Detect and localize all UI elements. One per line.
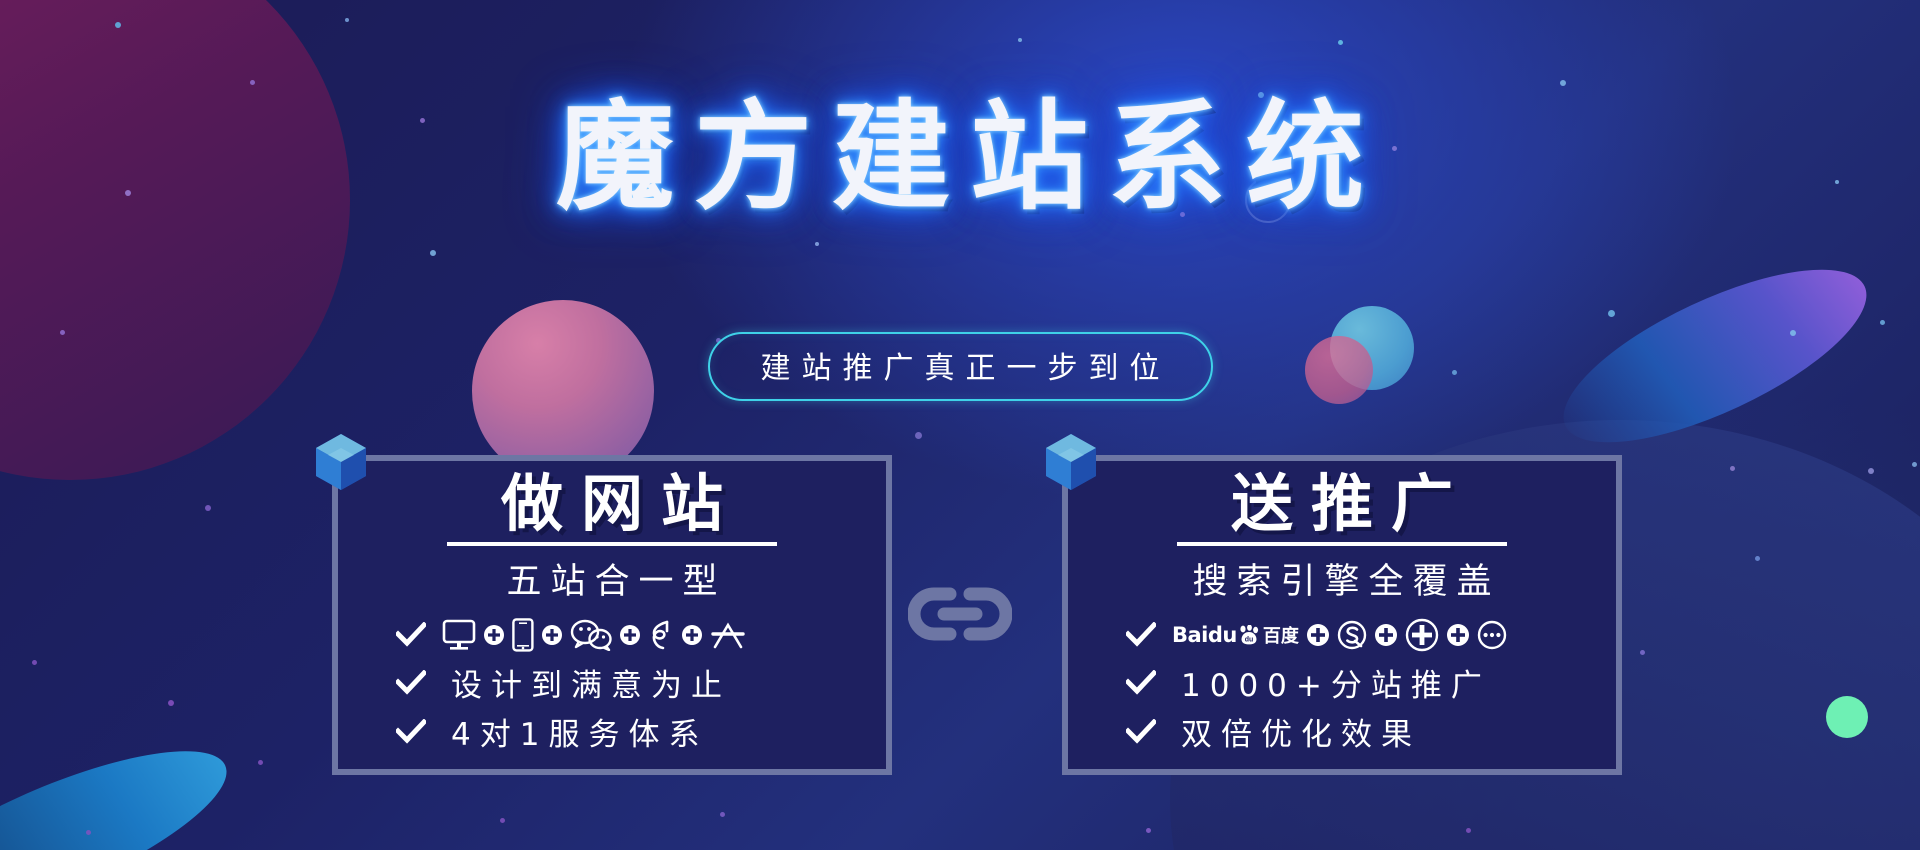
feature-row (338, 614, 886, 656)
plus-icon (1306, 623, 1330, 647)
star-dot (1755, 556, 1760, 561)
star-dot (1608, 310, 1615, 317)
check-icon (1126, 670, 1156, 696)
panel-build-website: 做网站 五站合一型 (332, 455, 892, 775)
check-icon (1126, 719, 1156, 745)
monitor-icon (442, 619, 476, 651)
plus-icon (1446, 623, 1470, 647)
panel-right-content: 送推广 搜索引擎全覆盖 Baidu du (1068, 461, 1616, 769)
baidu-latin-text: Baidu (1172, 625, 1237, 646)
plus-icon (619, 624, 641, 646)
panel-left-rule (447, 542, 777, 546)
star-dot (115, 22, 121, 28)
panel-left-heading: 做网站 (483, 469, 741, 538)
star-dot (345, 18, 349, 22)
sogou-icon (1337, 620, 1367, 650)
star-dot (32, 660, 37, 665)
feature-label: 设计到满意为止 (442, 660, 731, 705)
panel-left-subheading: 五站合一型 (497, 553, 726, 604)
app-store-icon (710, 619, 746, 651)
star-dot (86, 830, 91, 835)
chain-link-icon (908, 582, 1012, 646)
baidu-chinese-text: 百度 (1263, 628, 1299, 646)
star-dot (720, 812, 725, 817)
feature-label: 4对1服务体系 (442, 709, 708, 754)
subtitle-container: 建站推广真正一步到位 (0, 332, 1920, 401)
star-dot (1466, 828, 1471, 833)
blue-comet-decoration (0, 718, 246, 850)
baidu-logo: Baidu du 百度 (1172, 625, 1299, 646)
panel-right-heading: 送推广 (1213, 469, 1471, 538)
star-dot (1880, 320, 1885, 325)
star-dot (1018, 38, 1022, 42)
star-dot (168, 700, 174, 706)
feature-label: 双倍优化效果 (1172, 709, 1421, 754)
feature-row: 1000+分站推广 (1068, 660, 1616, 705)
star-dot (258, 760, 263, 765)
platform-icon-strip (442, 618, 746, 652)
svg-text:du: du (1245, 637, 1254, 644)
panel-left-content: 做网站 五站合一型 (338, 461, 886, 769)
check-icon (396, 719, 426, 745)
star-dot (1640, 650, 1645, 655)
plus-icon (483, 624, 505, 646)
star-dot (1868, 468, 1874, 474)
plus-icon (1374, 623, 1398, 647)
star-dot (205, 505, 211, 511)
star-dot (1730, 466, 1735, 471)
star-dot (915, 432, 922, 439)
search-engine-icon-strip: Baidu du 百度 (1172, 618, 1507, 652)
plus-icon (681, 624, 703, 646)
music-note-icon (648, 618, 674, 652)
star-dot (1912, 462, 1917, 467)
wechat-icon (570, 619, 612, 651)
check-icon (396, 670, 426, 696)
star-dot (430, 250, 436, 256)
360-search-icon (1405, 618, 1439, 652)
star-dot (815, 242, 819, 246)
feature-row: 设计到满意为止 (338, 660, 886, 705)
feature-label: 1000+分站推广 (1172, 660, 1491, 705)
mobile-phone-icon (512, 618, 534, 652)
feature-row: 双倍优化效果 (1068, 709, 1616, 754)
more-ellipsis-icon (1477, 620, 1507, 650)
star-dot (1338, 40, 1343, 45)
feature-row: Baidu du 百度 (1068, 614, 1616, 656)
check-icon (1126, 622, 1156, 648)
promo-banner: 魔方建站系统 建站推广真正一步到位 做网站 五站合一型 (0, 0, 1920, 850)
title-container: 魔方建站系统 (0, 96, 1920, 219)
panel-right-subheading: 搜索引擎全覆盖 (1183, 553, 1500, 604)
subtitle-badge: 建站推广真正一步到位 (708, 332, 1213, 401)
star-dot (1560, 80, 1566, 86)
page-title: 魔方建站系统 (536, 96, 1384, 219)
magenta-circle-decoration (0, 0, 350, 480)
panel-right-rule (1177, 542, 1507, 546)
star-dot (500, 818, 505, 823)
plus-icon (541, 624, 563, 646)
star-dot (1146, 828, 1151, 833)
feature-row: 4对1服务体系 (338, 709, 886, 754)
baidu-paw-icon: du (1238, 625, 1260, 645)
panel-free-promotion: 送推广 搜索引擎全覆盖 Baidu du (1062, 455, 1622, 775)
check-icon (396, 622, 426, 648)
green-dot-decoration (1826, 696, 1868, 738)
star-dot (250, 80, 255, 85)
